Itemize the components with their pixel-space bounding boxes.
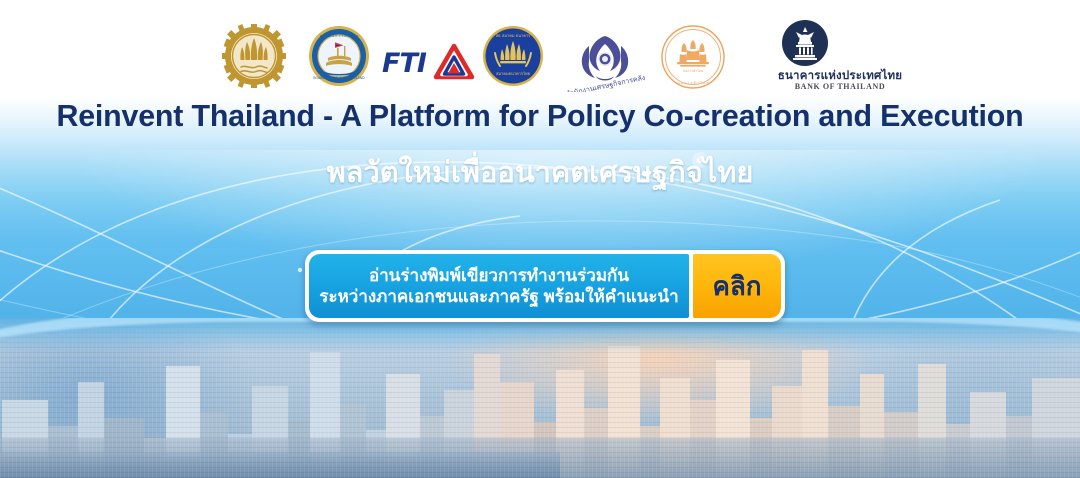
fiscal-policy-office-seal: สำนักงานเศรษฐกิจการคลัง	[562, 26, 648, 92]
svg-text:สำนักงานเศรษฐกิจการคลัง: สำนักงานเศรษฐกิจการคลัง	[565, 74, 646, 92]
read-blueprint-cta-button[interactable]: อ่านร่างพิมพ์เขียวการทำงานร่วมกัน ระหว่า…	[305, 250, 785, 322]
svg-text:ส-ภ-า-ห-อ-ก-า-ร-ค้-า-ไ-ท-ย: ส-ภ-า-ห-อ-ก-า-ร-ค้-า-ไ-ท-ย	[320, 34, 359, 38]
cta-message-panel[interactable]: อ่านร่างพิมพ์เขียวการทำงานร่วมกัน ระหว่า…	[309, 254, 689, 318]
bank-of-thailand-caption-th: ธนาคารแห่งประเทศไทย	[726, 70, 954, 82]
banner-title-english: Reinvent Thailand - A Platform for Polic…	[11, 98, 1069, 134]
svg-text:BOARD OF TRADE OF THAILAND: BOARD OF TRADE OF THAILAND	[313, 76, 365, 80]
reinvent-thailand-banner: ส-ภ-า-ห-อ-ก-า-ร-ค้-า-ไ-ท-ย BOARD OF TRAD…	[0, 0, 1080, 478]
svg-text:FTI: FTI	[382, 48, 427, 79]
thai-bankers-association-seal: สธ สมาคม ธนาคาร สมาคมธนาคารไทย	[482, 25, 544, 87]
cta-click-label[interactable]: คลิก	[693, 254, 781, 318]
svg-text:ห-อ-ก-า-ร-ค้-า-ไ-ท-ย: ห-อ-ก-า-ร-ค้-า-ไ-ท-ย	[677, 81, 708, 85]
svg-text:หอการค้าไทย: หอการค้าไทย	[683, 69, 703, 73]
ministry-of-industry-seal	[222, 24, 286, 88]
thai-chamber-of-commerce-seal: หอการค้าไทย ห-อ-ก-า-ร-ค้-า-ไ-ท-ย	[660, 24, 726, 90]
svg-text:สธ สมาคม ธนาคาร: สธ สมาคม ธนาคาร	[496, 33, 531, 38]
bank-of-thailand-logo	[782, 20, 828, 66]
cta-line-2: ระหว่างภาคเอกชนและภาครัฐ พร้อมให้คำแนะนำ	[319, 286, 678, 307]
cta-line-1: อ่านร่างพิมพ์เขียวการทำงานร่วมกัน	[369, 265, 629, 286]
bank-of-thailand-caption-en: BANK OF THAILAND	[726, 83, 954, 91]
bank-of-thailand-caption: ธนาคารแห่งประเทศไทย BANK OF THAILAND	[726, 70, 954, 91]
board-of-trade-of-thailand-seal: ส-ภ-า-ห-อ-ก-า-ร-ค้-า-ไ-ท-ย BOARD OF TRAD…	[308, 25, 370, 87]
partner-logos-row: ส-ภ-า-ห-อ-ก-า-ร-ค้-า-ไ-ท-ย BOARD OF TRAD…	[0, 14, 1080, 96]
banner-title-thai: พลวัตใหม่เพื่ออนาคตเศรษฐกิจไทย	[0, 149, 1080, 195]
bangkok-cityscape-photo	[0, 318, 1080, 478]
fti-logo: FTI	[382, 42, 478, 84]
svg-text:สมาคมธนาคารไทย: สมาคมธนาคารไทย	[496, 71, 530, 76]
